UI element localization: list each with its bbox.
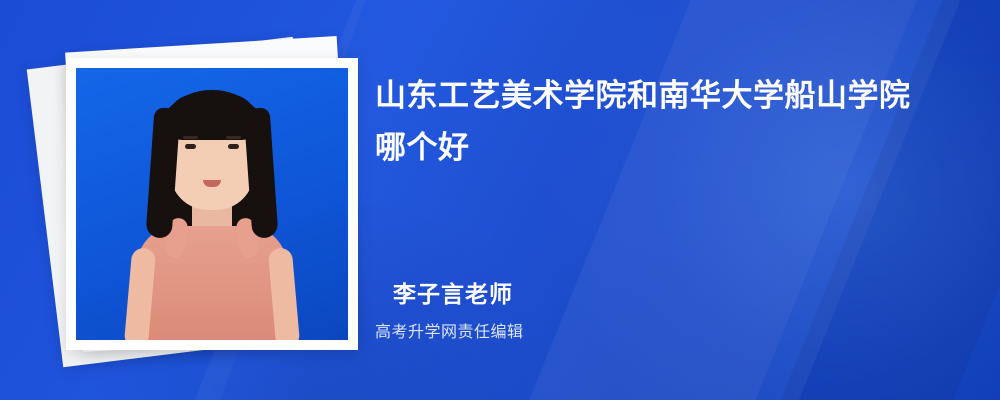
article-headline: 山东工艺美术学院和南华大学船山学院哪个好	[375, 70, 935, 174]
portrait-brow-left	[183, 136, 198, 139]
photo-card-stack	[40, 30, 380, 370]
portrait-brow-right	[226, 136, 241, 139]
portrait-eye-left	[185, 144, 196, 149]
author-title: 高考升学网责任编辑	[375, 318, 524, 342]
banner-text-column: 山东工艺美术学院和南华大学船山学院哪个好 李子言老师 高考升学网责任编辑	[375, 0, 1000, 400]
portrait-illustration	[76, 68, 348, 340]
author-photo-card	[66, 58, 358, 350]
author-name: 李子言老师	[393, 275, 513, 309]
author-photo	[76, 68, 348, 340]
portrait-dress	[137, 226, 287, 340]
portrait-eye-right	[228, 144, 239, 149]
article-banner: 山东工艺美术学院和南华大学船山学院哪个好 李子言老师 高考升学网责任编辑	[0, 0, 1000, 400]
